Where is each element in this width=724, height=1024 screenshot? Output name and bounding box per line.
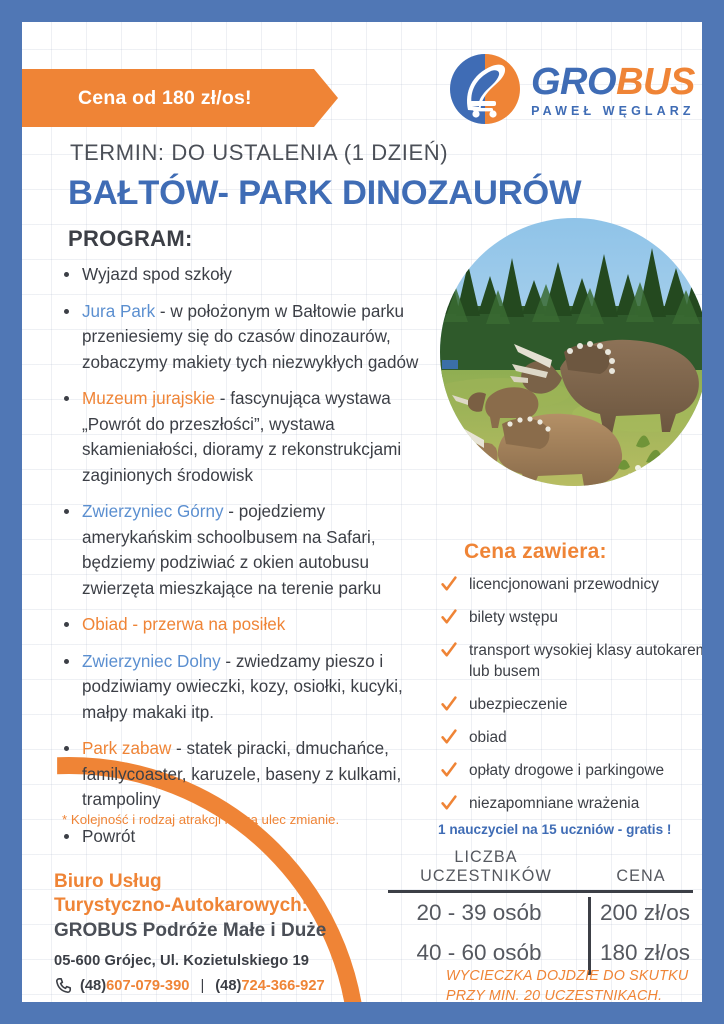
logo-word-gro: GRO [531,61,616,103]
grobus-logo: GROBUS PAWEŁ WĘGLARZ [448,50,702,128]
includes-item-label: ubezpieczenie [469,696,567,713]
office-name: Biuro Usług Turystyczno-Autokarowych: [54,870,414,918]
includes-list-item: bilety wstępu [438,607,702,628]
price-table-header: LICZBA UCZESTNIKÓW CENA [388,848,698,890]
includes-list-item: transport wysokiej klasy autokarem lub b… [438,640,702,682]
includes-heading: Cena zawiera: [464,540,607,564]
price-row-participants: 20 - 39 osób [388,893,584,933]
price-table-body: 20 - 39 osób 200 zł/os 40 - 60 osób 180 … [388,893,698,973]
office-name-line2: Turystyczno-Autokarowych: [54,894,414,918]
includes-item-label: licencjonowani przewodnicy [469,576,659,593]
logo-word-bus: BUS [616,61,695,103]
program-item-highlight: Park zabaw [82,739,171,758]
price-ribbon-arrow [314,69,338,127]
poster-page: Cena od 180 zł/os! GROBUS [0,0,724,1024]
includes-list-item: opłaty drogowe i parkingowe [438,760,702,781]
company-name: GROBUS Podróże Małe i Duże [54,918,414,944]
includes-item-label: obiad [469,729,507,746]
phone-icon [54,976,73,995]
program-list-item: Wyjazd spod szkoły [60,262,432,288]
poster-sheet: Cena od 180 zł/os! GROBUS [22,22,702,1002]
check-icon [440,608,458,626]
program-list-item: Zwierzyniec Górny - pojedziemy amerykańs… [60,499,432,601]
check-icon [440,641,458,659]
program-item-highlight: Zwierzyniec Dolny [82,652,221,671]
program-item-highlight: Muzeum jurajskie [82,389,215,408]
program-heading: PROGRAM: [68,226,193,252]
page-title: BAŁTÓW- PARK DINOZAURÓW [68,174,581,213]
program-list-item: Park zabaw - statek piracki, dmuchańce, … [60,736,432,813]
phone-row: (48) 607-079-390 | (48) 724-366-927 [54,976,414,995]
trip-term: TERMIN: DO USTALENIA (1 DZIEŃ) [70,140,448,166]
includes-list: licencjonowani przewodnicybilety wstęput… [438,574,702,826]
grobus-bus-emblem-icon [448,52,522,126]
price-table: LICZBA UCZESTNIKÓW CENA 20 - 39 osób 200… [388,848,698,973]
program-item-highlight: Obiad - przerwa na posiłek [82,615,285,634]
phone2-prefix: (48) [215,978,241,994]
program-list-item: Muzeum jurajskie - fascynująca wystawa „… [60,386,432,488]
logo-subtitle: PAWEŁ WĘGLARZ [531,104,695,118]
price-table-header-participants: LICZBA UCZESTNIKÓW [388,848,584,886]
price-ribbon-text: Cena od 180 zł/os! [78,87,252,110]
program-item-text: Powrót [82,827,135,846]
phone-number-2[interactable]: 724-366-927 [241,978,324,994]
program-list-item: Obiad - przerwa na posiłek [60,612,432,638]
program-list: Wyjazd spod szkołyJura Park - w położony… [60,262,432,860]
includes-item-label: bilety wstępu [469,609,558,626]
check-icon [440,575,458,593]
includes-item-label: opłaty drogowe i parkingowe [469,762,664,779]
program-footnote: * Kolejność i rodzaj atrakcji mogą ulec … [62,812,442,827]
contact-block: Biuro Usług Turystyczno-Autokarowych: GR… [54,870,414,1002]
teacher-free-note: 1 nauczyciel na 15 uczniów - gratis ! [438,822,671,837]
table-row: 20 - 39 osób 200 zł/os [388,893,698,933]
program-item-highlight: Zwierzyniec Górny [82,502,224,521]
phone-separator: | [200,978,204,994]
check-icon [440,728,458,746]
minimum-participants-notice: WYCIECZKA DOJDZIE DO SKUTKU PRZY MIN. 20… [446,966,702,1002]
includes-list-item: ubezpieczenie [438,694,702,715]
price-ribbon: Cena od 180 zł/os! [22,69,314,127]
phone1-prefix: (48) [80,978,106,994]
price-table-header-price: CENA [584,867,698,886]
price-table-divider [588,897,591,975]
program-item-text: Wyjazd spod szkoły [82,265,232,284]
program-list-item: Zwierzyniec Dolny - zwiedzamy pieszo i p… [60,649,432,726]
dinosaur-park-photo [440,218,702,486]
office-name-line1: Biuro Usług [54,870,414,894]
includes-list-item: obiad [438,727,702,748]
includes-list-item: niezapomniane wrażenia [438,793,702,814]
company-address: 05-600 Grójec, Ul. Kozietulskiego 19 [54,953,414,969]
check-icon [440,794,458,812]
program-list-item: Jura Park - w położonym w Bałtowie parku… [60,299,432,376]
phone-number-1[interactable]: 607-079-390 [106,978,189,994]
includes-item-label: transport wysokiej klasy autokarem lub b… [469,642,702,680]
program-list-item: Powrót [60,824,432,850]
check-icon [440,695,458,713]
includes-item-label: niezapomniane wrażenia [469,795,639,812]
includes-list-item: licencjonowani przewodnicy [438,574,702,595]
price-row-price: 200 zł/os [584,893,698,933]
check-icon [440,761,458,779]
grobus-wordmark: GROBUS PAWEŁ WĘGLARZ [531,61,695,118]
program-item-highlight: Jura Park [82,302,155,321]
